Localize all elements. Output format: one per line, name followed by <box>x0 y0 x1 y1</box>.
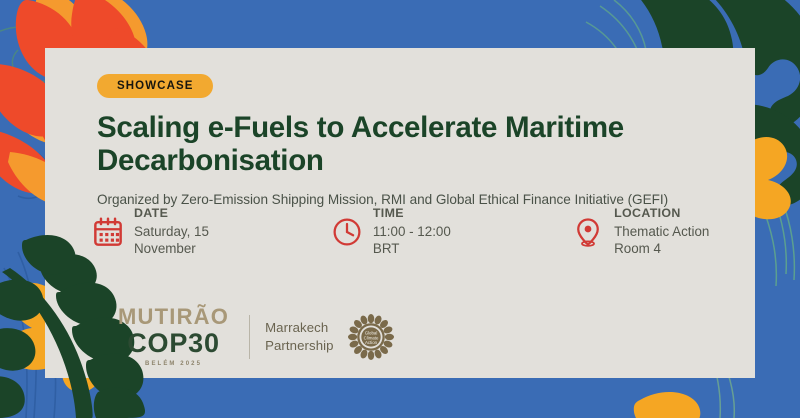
event-title: Scaling e-Fuels to Accelerate Maritime D… <box>97 111 697 178</box>
logo-strip: MUTIRÃO COP30 BELÉM 2025 Marrakech Partn… <box>118 306 394 367</box>
detail-time: TIME 11:00 - 12:00 BRT <box>332 206 469 257</box>
cop30-belem-text: BELÉM 2025 <box>145 361 202 367</box>
line-art-left-mid <box>0 147 51 198</box>
detail-time-text: TIME 11:00 - 12:00 BRT <box>373 206 469 257</box>
global-climate-action-emblem: Global Climate Action <box>348 314 394 360</box>
cop30-logo: MUTIRÃO COP30 BELÉM 2025 <box>118 306 229 367</box>
detail-time-value: 11:00 - 12:00 BRT <box>373 223 469 258</box>
detail-location-value: Thematic Action Room 4 <box>614 223 745 258</box>
location-pin-icon <box>573 217 603 247</box>
detail-time-label: TIME <box>373 206 469 222</box>
logo-divider <box>249 315 250 359</box>
detail-location: LOCATION Thematic Action Room 4 <box>573 206 745 257</box>
detail-date-value: Saturday, 15 November <box>134 223 260 258</box>
card-inner: SHOWCASE Scaling e-Fuels to Accelerate M… <box>97 74 731 209</box>
event-details-row: DATE Saturday, 15 November TIME 11:00 - … <box>45 206 745 257</box>
detail-location-text: LOCATION Thematic Action Room 4 <box>614 206 745 257</box>
showcase-badge: SHOWCASE <box>97 74 213 98</box>
emblem-line-3: Action <box>365 339 378 344</box>
calendar-icon <box>93 217 123 247</box>
detail-date-label: DATE <box>134 206 260 222</box>
marrakech-line-2: Partnership <box>265 337 334 354</box>
marrakech-partnership-text: Marrakech Partnership <box>265 319 334 354</box>
clock-icon <box>332 217 362 247</box>
detail-date: DATE Saturday, 15 November <box>93 206 260 257</box>
event-card-graphic: SHOWCASE Scaling e-Fuels to Accelerate M… <box>0 0 800 418</box>
detail-location-label: LOCATION <box>614 206 745 222</box>
cop30-mutirao-text: MUTIRÃO <box>118 306 229 328</box>
detail-date-text: DATE Saturday, 15 November <box>134 206 260 257</box>
cop30-text: COP30 <box>127 330 220 357</box>
line-art-right-mid <box>758 178 794 286</box>
marrakech-line-1: Marrakech <box>265 319 334 336</box>
emblem-text: Global Climate Action <box>363 330 378 344</box>
